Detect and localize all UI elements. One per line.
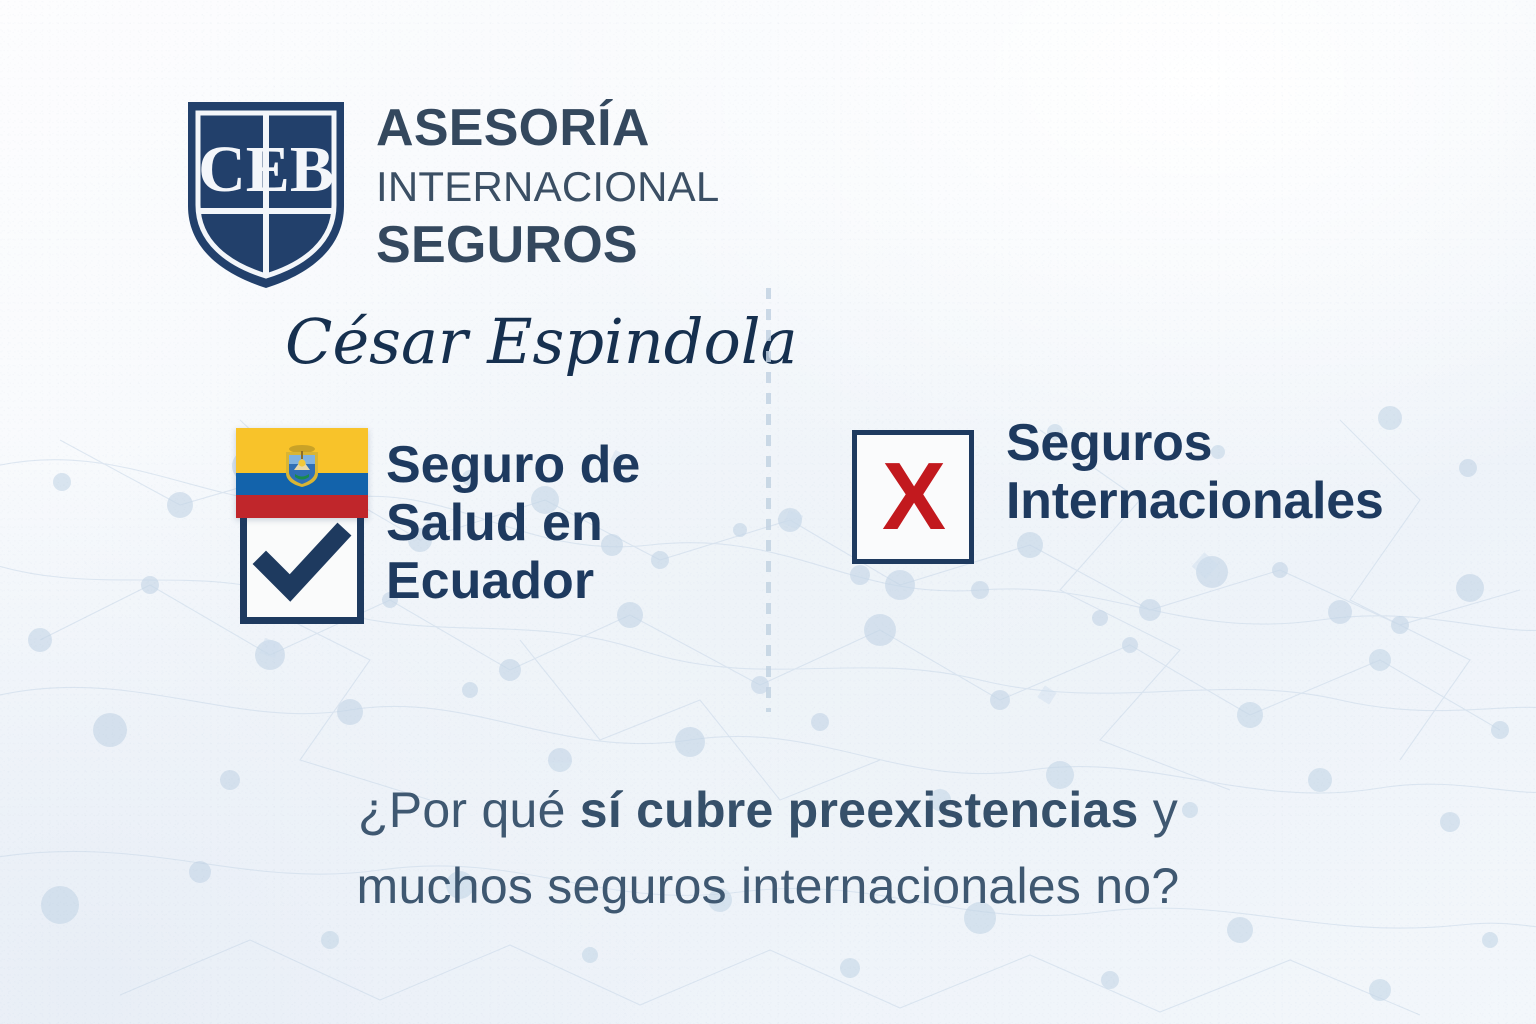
- question-line-1: ¿Por qué sí cubre preexistencias y: [0, 772, 1536, 848]
- brand-wordmark: ASESORÍA INTERNACIONAL SEGUROS: [376, 96, 719, 271]
- question-emphasis: sí cubre preexistencias: [580, 782, 1139, 838]
- unchecked-option-marker[interactable]: X: [852, 430, 976, 568]
- comparison-left-heading: Seguro de Salud en Ecuador: [386, 436, 640, 611]
- ecuador-coat-of-arms-icon: [282, 443, 322, 489]
- advisor-signature: César Espindola: [285, 305, 705, 385]
- signature-text: César Espindola: [285, 305, 798, 378]
- poster-canvas: CEB ASESORÍA INTERNACIONAL SEGUROS César…: [0, 0, 1536, 1024]
- checked-option-marker[interactable]: [236, 428, 368, 628]
- ceb-shield-icon: CEB: [182, 96, 350, 292]
- brand-line-asesoria: ASESORÍA: [376, 102, 719, 154]
- question-line-1-post: y: [1139, 782, 1178, 838]
- shield-monogram: CEB: [198, 133, 334, 206]
- comparison-right-heading: Seguros Internacionales: [1006, 414, 1384, 530]
- brand-line-seguros: SEGUROS: [376, 219, 719, 271]
- question-line-2: muchos seguros internacionales no?: [0, 848, 1536, 924]
- vertical-dashed-divider: [766, 288, 771, 712]
- brand-logo-block: CEB ASESORÍA INTERNACIONAL SEGUROS: [182, 96, 719, 292]
- brand-line-internacional: INTERNACIONAL: [376, 166, 719, 208]
- flag-band-red: [236, 495, 368, 518]
- closing-question: ¿Por qué sí cubre preexistencias y mucho…: [0, 772, 1536, 924]
- question-line-1-pre: ¿Por qué: [358, 782, 580, 838]
- comparison-left-column: Seguro de Salud en Ecuador: [236, 428, 640, 628]
- ecuador-flag-icon: [236, 428, 368, 518]
- comparison-right-column: X Seguros Internacionales: [852, 428, 1384, 568]
- checkmark-icon: [240, 500, 364, 624]
- x-mark-icon: X: [852, 430, 976, 568]
